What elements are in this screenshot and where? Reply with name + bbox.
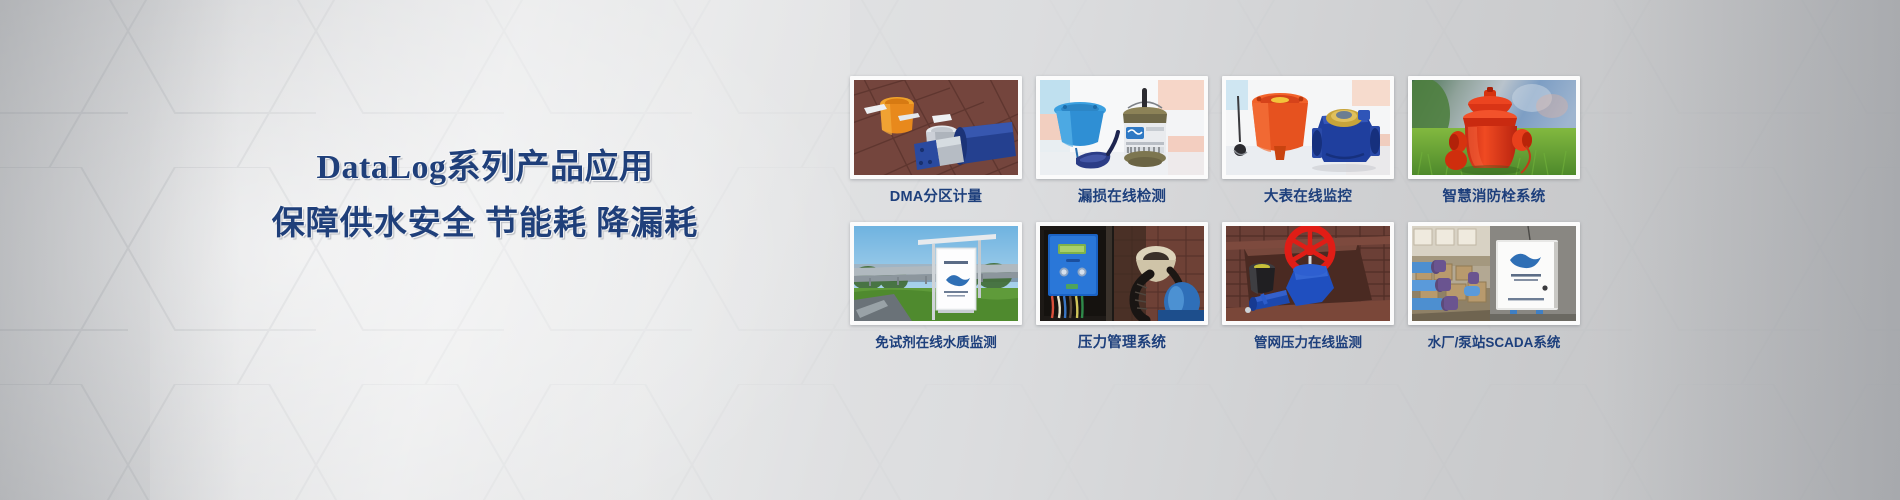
card-label: DMA分区计量: [850, 188, 1022, 206]
right-vignette: [1600, 0, 1900, 500]
banner-root: DataLog系列产品应用 保障供水安全 节能耗 降漏耗: [0, 0, 1900, 500]
thumbnail-frame: [850, 222, 1022, 325]
water-quality-station-photo: [854, 226, 1018, 321]
card-scada-system[interactable]: 水厂/泵站SCADA系统: [1408, 222, 1580, 352]
pressure-control-panel-photo: [1040, 226, 1204, 321]
scada-cabinet-photo: [1412, 226, 1576, 321]
card-dma-metering[interactable]: DMA分区计量: [850, 76, 1022, 206]
thumbnail-frame: [850, 76, 1022, 179]
card-reagent-free-water-quality[interactable]: 免试剂在线水质监测: [850, 222, 1022, 352]
card-smart-fire-hydrant[interactable]: 智慧消防栓系统: [1408, 76, 1580, 206]
card-large-meter-monitoring[interactable]: 大表在线监控: [1222, 76, 1394, 206]
large-meter-photo: [1226, 80, 1390, 175]
card-label: 漏损在线检测: [1036, 188, 1208, 206]
application-card-grid: DMA分区计量: [850, 76, 1580, 352]
thumbnail-frame: [1222, 76, 1394, 179]
thumbnail-frame: [1408, 222, 1580, 325]
card-label: 管网压力在线监测: [1222, 334, 1394, 352]
leak-detection-photo: [1040, 80, 1204, 175]
background-sheen: [150, 0, 850, 500]
card-label: 水厂/泵站SCADA系统: [1408, 334, 1580, 352]
card-label: 大表在线监控: [1222, 188, 1394, 206]
headline-block: DataLog系列产品应用 保障供水安全 节能耗 降漏耗: [270, 148, 700, 244]
card-label: 免试剂在线水质监测: [850, 334, 1022, 352]
fire-hydrant-photo: [1412, 80, 1576, 175]
thumbnail-frame: [1036, 222, 1208, 325]
thumbnail-frame: [1036, 76, 1208, 179]
dma-metering-photo: [854, 80, 1018, 175]
headline-line-1: DataLog系列产品应用: [270, 148, 700, 188]
card-leak-detection[interactable]: 漏损在线检测: [1036, 76, 1208, 206]
card-label: 智慧消防栓系统: [1408, 188, 1580, 206]
card-label: 压力管理系统: [1036, 334, 1208, 352]
card-pressure-management[interactable]: 压力管理系统: [1036, 222, 1208, 352]
thumbnail-frame: [1222, 222, 1394, 325]
gate-valve-photo: [1226, 226, 1390, 321]
card-pipe-network-pressure[interactable]: 管网压力在线监测: [1222, 222, 1394, 352]
left-vignette: [0, 0, 240, 500]
thumbnail-frame: [1408, 76, 1580, 179]
headline-line-2: 保障供水安全 节能耗 降漏耗: [270, 204, 700, 244]
